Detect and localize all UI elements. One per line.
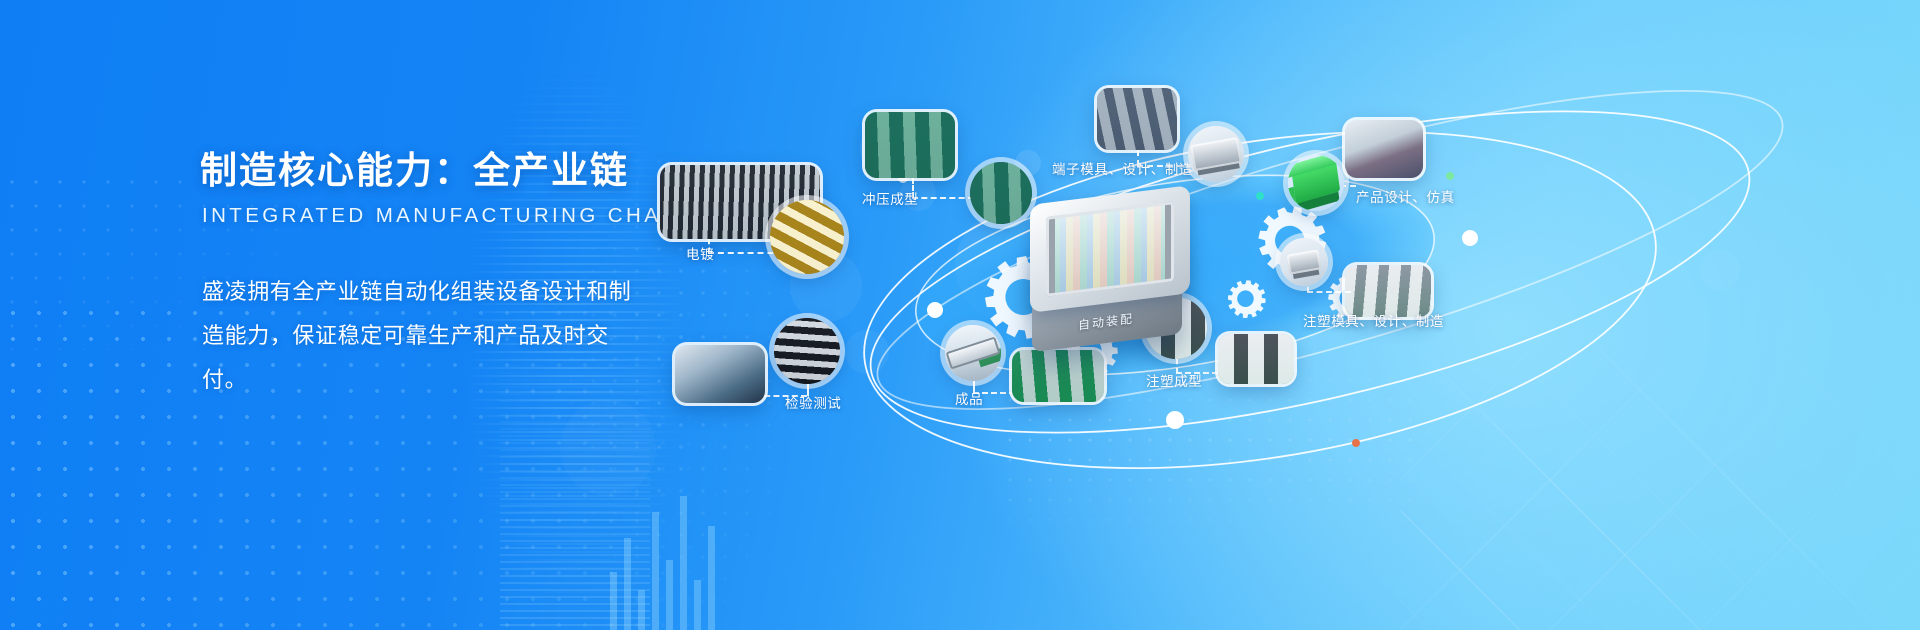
node-finished-circle[interactable]	[945, 325, 1001, 381]
node-product-design-photo[interactable]	[1345, 120, 1423, 178]
node-stamping-photo[interactable]	[865, 112, 955, 178]
terminal-mold-workshop-photo	[1097, 88, 1177, 150]
center-mold-hero[interactable]: 自动装配	[1018, 195, 1208, 355]
test-fixture-circle-icon	[774, 318, 840, 384]
connector-injmold-h	[1307, 291, 1351, 293]
caption-product-design: 产品设计、仿真	[1356, 186, 1455, 206]
page-subtitle: INTEGRATED MANUFACTURING CHAIN	[202, 204, 620, 228]
description-text: 盛凌拥有全产业链自动化组装设备设计和制造能力，保证稳定可靠生产和产品及时交付。	[202, 270, 632, 402]
node-injmold-circle[interactable]	[1280, 238, 1328, 286]
inspection-lab-photo	[675, 345, 765, 403]
node-design-circle[interactable]	[1288, 155, 1344, 211]
node-gold-terminal[interactable]	[770, 200, 844, 274]
caption-injection-form: 注塑成型	[1146, 370, 1202, 390]
page-title: 制造核心能力：全产业链	[200, 140, 620, 194]
mold-cavity	[1046, 201, 1174, 297]
manufacturing-chain-diagram: 电镀 冲压成型 端子模具、设计、制造 产品设计、仿真	[790, 0, 1920, 630]
caption-injection-mold: 注塑模具、设计、制造	[1303, 310, 1444, 330]
connector-stamping-h	[912, 197, 974, 199]
stamping-machine-photo	[865, 112, 955, 178]
copy-block: 制造核心能力：全产业链 INTEGRATED MANUFACTURING CHA…	[200, 140, 620, 402]
caption-finished: 成品	[955, 388, 983, 408]
caption-stamping: 冲压成型	[862, 188, 918, 208]
caption-inspection: 检验测试	[785, 392, 841, 412]
caption-plating: 电镀	[686, 243, 714, 263]
assembly-line-photo	[1012, 350, 1104, 402]
node-assembly-photo[interactable]	[1012, 350, 1104, 402]
node-inspection-photo[interactable]	[675, 345, 765, 403]
gold-terminal-circle-icon	[770, 200, 844, 274]
bar-chart-motif	[610, 470, 720, 630]
banner-root: 制造核心能力：全产业链 INTEGRATED MANUFACTURING CHA…	[0, 0, 1920, 630]
caption-terminal-mold: 端子模具、设计、制造	[1052, 158, 1193, 178]
node-terminal-circle[interactable]	[1188, 126, 1244, 182]
design-office-photo	[1345, 120, 1423, 178]
node-injection-line-photo[interactable]	[1218, 334, 1294, 384]
node-terminal-mold-photo[interactable]	[1097, 88, 1177, 150]
node-inspection-circle[interactable]	[774, 318, 840, 384]
injection-line-photo	[1218, 334, 1294, 384]
